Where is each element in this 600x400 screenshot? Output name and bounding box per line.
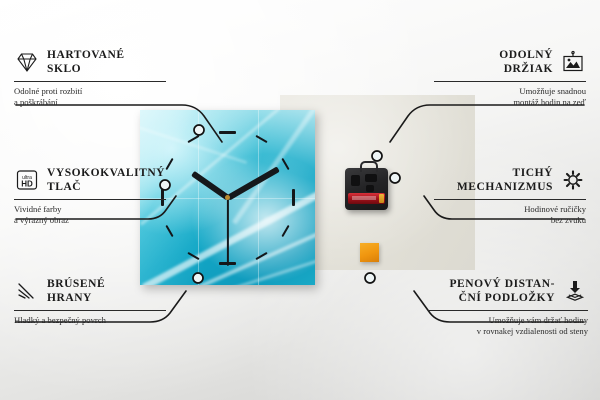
callout-subtitle-line2: a poškrábání bbox=[14, 97, 166, 108]
callout-foam-spacers: PENOVÝ DISTAN- ČNÍ PODLOŽKY Umožňuje vám… bbox=[428, 277, 588, 337]
callout-subtitle-line2: montáž hodin na zeď bbox=[434, 97, 586, 108]
callout-title: ODOLNÝ DRŽIAK bbox=[499, 48, 553, 77]
callout-subtitle-line2: v rovnakej vzdialenosti od steny bbox=[428, 326, 588, 337]
mechanism-detail bbox=[351, 175, 360, 186]
callout-polished-edges: BRÚSENÉ HRANY Hladký a bezpečný povrch bbox=[14, 277, 166, 326]
callout-title: HARTOVANÉ SKLO bbox=[47, 48, 125, 77]
callout-divider bbox=[14, 310, 166, 311]
wall-mount-icon bbox=[560, 50, 586, 74]
callout-header: BRÚSENÉ HRANY bbox=[14, 277, 166, 306]
callout-divider bbox=[434, 81, 586, 82]
callout-title: BRÚSENÉ HRANY bbox=[47, 277, 105, 306]
clock-second-hand bbox=[227, 197, 229, 265]
callout-divider bbox=[14, 199, 166, 200]
svg-text:HD: HD bbox=[21, 180, 33, 189]
callout-subtitle-line1: Hladký a bezpečný povrch bbox=[14, 315, 166, 326]
callout-divider bbox=[428, 310, 588, 311]
clock-hour-marker bbox=[292, 189, 295, 206]
gear-icon bbox=[560, 168, 586, 192]
callout-high-quality-print: ultra HD VYSOKOKVALITNÝ TLAČ Vividné far… bbox=[14, 166, 166, 226]
callout-title: TICHÝ MECHANIZMUS bbox=[457, 166, 553, 195]
callout-header: ODOLNÝ DRŽIAK bbox=[434, 48, 586, 77]
clock-hour-marker bbox=[219, 131, 236, 134]
callout-header: HARTOVANÉ SKLO bbox=[14, 48, 166, 77]
infographic-stage: HARTOVANÉ SKLO Odolné proti rozbití a po… bbox=[0, 0, 600, 400]
ultra-hd-icon: ultra HD bbox=[14, 168, 40, 192]
clock-mechanism bbox=[345, 168, 388, 210]
callout-silent-mechanism: TICHÝ MECHANIZMUS Hodinové ručičky bez z… bbox=[434, 166, 586, 226]
foam-spacer-pad bbox=[360, 243, 379, 262]
callout-tempered-glass: HARTOVANÉ SKLO Odolné proti rozbití a po… bbox=[14, 48, 166, 108]
callout-title: PENOVÝ DISTAN- ČNÍ PODLOŽKY bbox=[449, 277, 555, 306]
mechanism-detail bbox=[366, 185, 374, 192]
callout-header: PENOVÝ DISTAN- ČNÍ PODLOŽKY bbox=[428, 277, 588, 306]
mechanism-hanger bbox=[360, 161, 378, 172]
callout-durable-mount: ODOLNÝ DRŽIAK Umožňuje snadnou montáž ho… bbox=[434, 48, 586, 108]
battery-plus-terminal bbox=[379, 194, 384, 203]
callout-header: TICHÝ MECHANIZMUS bbox=[434, 166, 586, 195]
callout-subtitle-line1: Vividné farby bbox=[14, 204, 166, 215]
callout-divider bbox=[434, 199, 586, 200]
product-clock-face bbox=[140, 110, 315, 285]
callout-subtitle-line1: Umožňuje snadnou bbox=[434, 86, 586, 97]
polished-edges-icon bbox=[14, 279, 40, 303]
mechanism-detail bbox=[365, 174, 377, 182]
callout-subtitle-line1: Hodinové ručičky bbox=[434, 204, 586, 215]
clock-center-hub bbox=[225, 195, 230, 200]
battery-label bbox=[352, 196, 376, 200]
callout-divider bbox=[14, 81, 166, 82]
callout-subtitle-line1: Odolné proti rozbití bbox=[14, 86, 166, 97]
callout-subtitle-line2: bez zvuku bbox=[434, 215, 586, 226]
battery bbox=[348, 193, 385, 204]
foam-spacer-icon bbox=[562, 279, 588, 303]
callout-subtitle-line1: Umožňuje vám držať hodiny bbox=[428, 315, 588, 326]
callout-subtitle-line2: a výrazný obraz bbox=[14, 215, 166, 226]
callout-title: VYSOKOKVALITNÝ TLAČ bbox=[47, 166, 165, 195]
diamond-icon bbox=[14, 50, 40, 74]
callout-header: ultra HD VYSOKOKVALITNÝ TLAČ bbox=[14, 166, 166, 195]
